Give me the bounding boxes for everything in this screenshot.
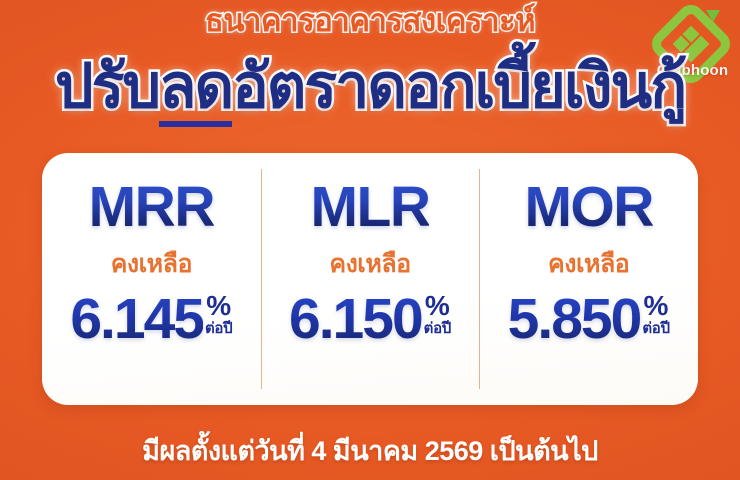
rate-value-row: 6.150 % ต่อปี — [289, 291, 451, 348]
per-year-label: ต่อปี — [424, 321, 451, 336]
promotional-poster: Clubhoon ธนาคารอาคารสงเคราะห์ ปรับลดอัตร… — [0, 0, 740, 480]
percent-symbol: % — [644, 293, 669, 320]
rate-value-row: 5.850 % ต่อปี — [508, 291, 670, 348]
headline-suffix: อัตราดอกเบี้ยเงินกู้ — [232, 52, 685, 120]
rate-value: 6.150 — [289, 291, 422, 348]
rate-unit: % ต่อปี — [642, 291, 669, 336]
rate-sublabel: คงเหลือ — [329, 252, 410, 277]
rate-value: 6.145 — [70, 291, 203, 348]
rate-column-mor: MOR คงเหลือ 5.850 % ต่อปี — [479, 153, 698, 405]
headline: ปรับลดอัตราดอกเบี้ยเงินกู้ — [0, 52, 740, 122]
headline-emphasis: ลด — [159, 52, 232, 127]
rate-code: MRR — [89, 179, 214, 236]
rate-sublabel: คงเหลือ — [111, 252, 192, 277]
per-year-label: ต่อปี — [642, 321, 669, 336]
rate-sublabel: คงเหลือ — [548, 252, 629, 277]
headline-prefix: ปรับ — [55, 52, 159, 120]
rate-code: MOR — [524, 179, 652, 236]
percent-symbol: % — [206, 293, 231, 320]
rate-unit: % ต่อปี — [205, 291, 232, 336]
rate-column-mrr: MRR คงเหลือ 6.145 % ต่อปี — [42, 153, 261, 405]
rate-value: 5.850 — [508, 291, 641, 348]
percent-symbol: % — [425, 293, 450, 320]
rate-code: MLR — [311, 179, 430, 236]
rate-unit: % ต่อปี — [424, 291, 451, 336]
rate-value-row: 6.145 % ต่อปี — [70, 291, 232, 348]
per-year-label: ต่อปี — [205, 321, 232, 336]
effective-date-note: มีผลตั้งแต่วันที่ 4 มีนาคม 2569 เป็นต้นไ… — [0, 436, 740, 467]
bank-name: ธนาคารอาคารสงเคราะห์ — [0, 4, 740, 39]
rate-column-mlr: MLR คงเหลือ 6.150 % ต่อปี — [261, 153, 480, 405]
rate-card: MRR คงเหลือ 6.145 % ต่อปี MLR คงเหลือ 6.… — [42, 153, 698, 405]
